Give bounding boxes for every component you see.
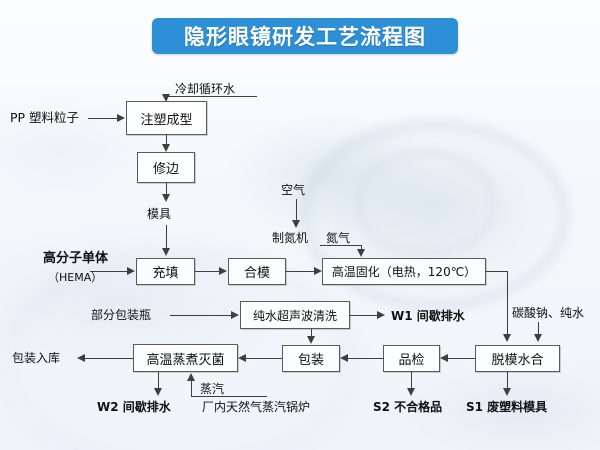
line-pp-to-injection xyxy=(88,118,118,119)
line-demold-to-inspection xyxy=(448,358,475,359)
line-inspection-to-s2 xyxy=(411,372,412,389)
node-trimming[interactable]: 修边 xyxy=(137,152,195,183)
line-cleaning-to-w1 xyxy=(350,315,378,316)
label-mold: 模具 xyxy=(147,207,171,221)
arrow-filling-to-moldclose xyxy=(219,267,227,275)
arrow-air-to-generator xyxy=(292,220,300,228)
node-quality-inspection-label: 品检 xyxy=(398,349,424,368)
node-mold-closing-label: 合模 xyxy=(244,262,270,281)
watermark-swirl-2 xyxy=(355,150,497,257)
line-sterilization-to-warehouse xyxy=(85,358,133,359)
page-title: 隐形眼镜研发工艺流程图 xyxy=(184,21,426,51)
line-bottles-to-cleaning xyxy=(170,315,232,316)
arrow-injection-to-trim xyxy=(162,144,170,152)
chart-title-banner: 隐形眼镜研发工艺流程图 xyxy=(152,18,458,54)
node-demold-hydration-label: 脱模水合 xyxy=(491,349,543,368)
label-monomer-line2: （HEMA） xyxy=(48,271,102,285)
label-steam: 蒸汽 xyxy=(200,382,224,396)
node-high-temp-curing-label: 高温固化（电热，120℃） xyxy=(332,263,476,280)
node-injection-molding-label: 注塑成型 xyxy=(140,109,192,128)
line-monomer-to-filling xyxy=(90,271,128,272)
arrow-demold-to-inspection xyxy=(440,354,448,362)
label-monomer-line1: 高分子单体 xyxy=(43,252,108,266)
arrow-sterilization-to-w2 xyxy=(154,388,162,396)
arrow-steam-to-sterilization xyxy=(187,373,195,381)
node-ultrasonic-cleaning[interactable]: 纯水超声波清洗 xyxy=(240,301,350,329)
arrow-monomer-to-filling xyxy=(127,267,135,275)
node-mold-closing[interactable]: 合模 xyxy=(228,258,286,285)
arrow-mold-to-filling xyxy=(162,248,170,256)
label-w1-discharge: W1 间歇排水 xyxy=(391,309,465,323)
arrow-bottles-to-cleaning xyxy=(231,311,239,319)
node-filling-label: 充填 xyxy=(152,262,178,281)
line-steam-up xyxy=(191,381,192,396)
label-pp-pellets: PP 塑料粒子 xyxy=(10,111,79,125)
node-ultrasonic-cleaning-label: 纯水超声波清洗 xyxy=(253,307,337,324)
line-nitrogen-underline xyxy=(320,245,362,246)
node-filling[interactable]: 充填 xyxy=(136,258,195,285)
label-cooling-water: 冷却循环水 xyxy=(175,82,235,96)
arrow-curing-to-demold xyxy=(503,334,511,342)
flowchart-page: 隐形眼镜研发工艺流程图 冷却循环水 注塑成型 PP 塑料粒子 修边 模具 空气 … xyxy=(0,0,600,450)
line-steam-underline xyxy=(191,396,267,397)
arrow-packaging-to-sterilization xyxy=(238,354,246,362)
arrow-reagent-to-demold xyxy=(534,334,542,342)
line-reagent-down xyxy=(538,322,539,334)
line-cooling-water-underline xyxy=(175,96,257,97)
arrow-inspection-to-packaging xyxy=(340,354,348,362)
line-mold-to-filling xyxy=(166,225,167,249)
label-s2-reject: S2 不合格品 xyxy=(373,400,442,414)
line-curing-down xyxy=(507,271,508,335)
line-sterilization-to-w2 xyxy=(158,372,159,389)
arrow-trim-to-mold xyxy=(162,194,170,202)
arrow-cleaning-to-packaging xyxy=(307,336,315,344)
arrow-inspection-to-s2 xyxy=(407,388,415,396)
node-demold-hydration[interactable]: 脱模水合 xyxy=(475,345,560,372)
label-s1-waste-mold: S1 废塑料模具 xyxy=(466,400,547,414)
line-demold-to-s1 xyxy=(507,372,508,389)
node-injection-molding[interactable]: 注塑成型 xyxy=(126,101,207,135)
arrow-nitrogen-to-curing xyxy=(357,249,365,257)
label-partial-bottles: 部分包装瓶 xyxy=(91,308,151,322)
label-gas-boiler: 厂内天然气蒸汽锅炉 xyxy=(202,400,310,414)
line-moldclose-to-curing xyxy=(286,271,315,272)
arrow-cleaning-to-w1 xyxy=(377,311,385,319)
arrow-sterilization-to-warehouse xyxy=(77,354,85,362)
line-air-to-generator xyxy=(296,199,297,221)
arrow-pp-to-injection xyxy=(117,114,125,122)
label-pack-warehouse: 包装入库 xyxy=(12,351,60,365)
label-nitrogen-generator: 制氮机 xyxy=(272,231,308,245)
line-inspection-to-packaging xyxy=(348,358,383,359)
label-air: 空气 xyxy=(281,183,305,197)
label-w2-discharge: W2 间歇排水 xyxy=(97,400,171,414)
node-steam-sterilization[interactable]: 高温蒸煮灭菌 xyxy=(133,344,238,372)
node-packaging[interactable]: 包装 xyxy=(282,345,340,372)
node-steam-sterilization-label: 高温蒸煮灭菌 xyxy=(146,349,224,368)
node-trimming-label: 修边 xyxy=(153,158,179,177)
arrow-moldclose-to-curing xyxy=(314,267,322,275)
arrow-demold-to-s1 xyxy=(503,388,511,396)
node-quality-inspection[interactable]: 品检 xyxy=(383,345,440,372)
node-high-temp-curing[interactable]: 高温固化（电热，120℃） xyxy=(322,258,486,285)
label-sodium-carbonate: 碳酸钠、纯水 xyxy=(512,306,584,320)
line-packaging-to-sterilization xyxy=(246,358,282,359)
line-filling-to-moldclose xyxy=(195,271,220,272)
node-packaging-label: 包装 xyxy=(298,349,324,368)
label-nitrogen-gas: 氮气 xyxy=(326,231,350,245)
line-curing-right xyxy=(486,271,508,272)
